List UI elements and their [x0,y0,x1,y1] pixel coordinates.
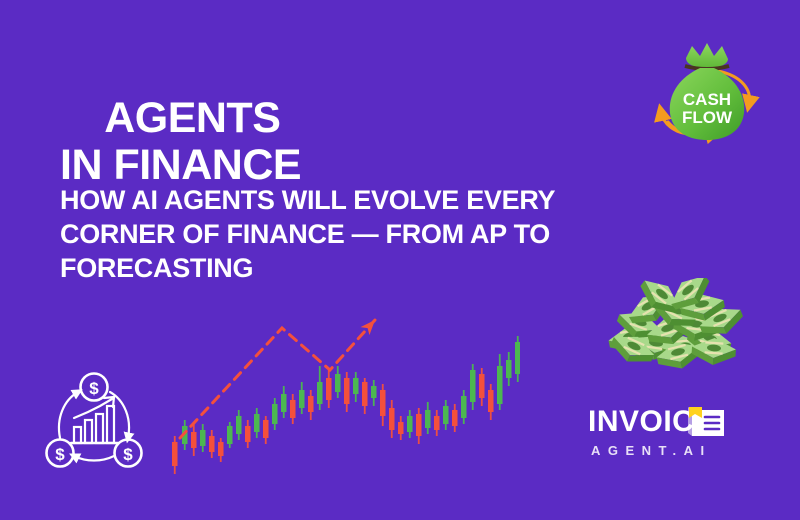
cycle-arrow-bottom-icon [74,456,114,461]
candle [335,366,341,398]
svg-text:$: $ [89,379,99,398]
candle [416,408,422,444]
candle [245,420,251,448]
candle [443,400,449,430]
candle [389,400,395,438]
candle [200,424,206,452]
candle [172,436,178,474]
candle [281,386,287,418]
candle [326,370,332,408]
candle [362,378,368,414]
candle [425,402,431,434]
candle [506,352,512,386]
candle [488,384,494,420]
candle [272,398,278,430]
finance-banner: AGENTSIN FINANCE HOW AI AGENTS WILL EVOL… [0,0,800,520]
flow-label: FLOW [682,108,733,127]
headline-line-1: AGENTS [104,94,280,142]
cash-bundles-group [606,278,746,370]
candle [263,416,269,444]
candle [452,404,458,432]
svg-text:$: $ [55,445,65,464]
candle [515,336,520,382]
candle [353,372,359,402]
candle [227,422,233,448]
candle [218,438,224,462]
candles-layer [172,336,520,474]
candle [290,394,296,424]
candle [461,390,467,424]
candle [407,410,413,438]
subtitle-line-1: HOW AI AGENTS WILL EVOLVE EVERY [60,183,720,217]
candle [434,410,440,436]
logo-tagline: AGENT.AI [591,443,712,459]
subtitle-line-2: CORNER OF FINANCE — FROM AP TO [60,217,720,251]
coin-bottom-right-icon: $ [115,440,142,467]
page-subtitle: HOW AI AGENTS WILL EVOLVE EVERY CORNER O… [60,183,720,285]
candlestick-chart [170,300,520,485]
logo-wordmark: INVOIC [588,405,694,439]
trend-line-layer [180,316,379,438]
candle [479,368,485,406]
candle [308,390,314,420]
bag-top-icon [686,43,728,68]
coin-top-icon: $ [81,374,108,401]
candle [236,410,242,440]
candle [470,364,476,410]
candle [380,384,386,426]
cycle-arrow-left-icon [59,392,78,438]
candle [371,380,377,406]
candle [317,366,323,410]
candle [254,408,260,438]
candle [299,382,305,414]
money-pile-illustration [600,278,750,370]
brand-logo[interactable]: INVOIC AGENT.AI [588,405,748,467]
candle [497,354,503,410]
cash-label: CASH [683,90,731,109]
candle [344,372,350,412]
candle [191,424,197,456]
candle [398,416,404,440]
cash-flow-badge: CASH FLOW [648,38,766,150]
logo-wordmark-row: INVOIC [588,405,748,439]
invoice-document-e-icon [686,406,728,438]
svg-text:$: $ [123,445,133,464]
coin-bottom-left-icon: $ [47,440,74,467]
finance-growth-cycle-icon: $ $ $ [44,370,144,470]
candle [209,430,215,458]
headline-line-2: IN FINANCE [60,142,301,189]
bar-chart-icon [71,397,118,443]
